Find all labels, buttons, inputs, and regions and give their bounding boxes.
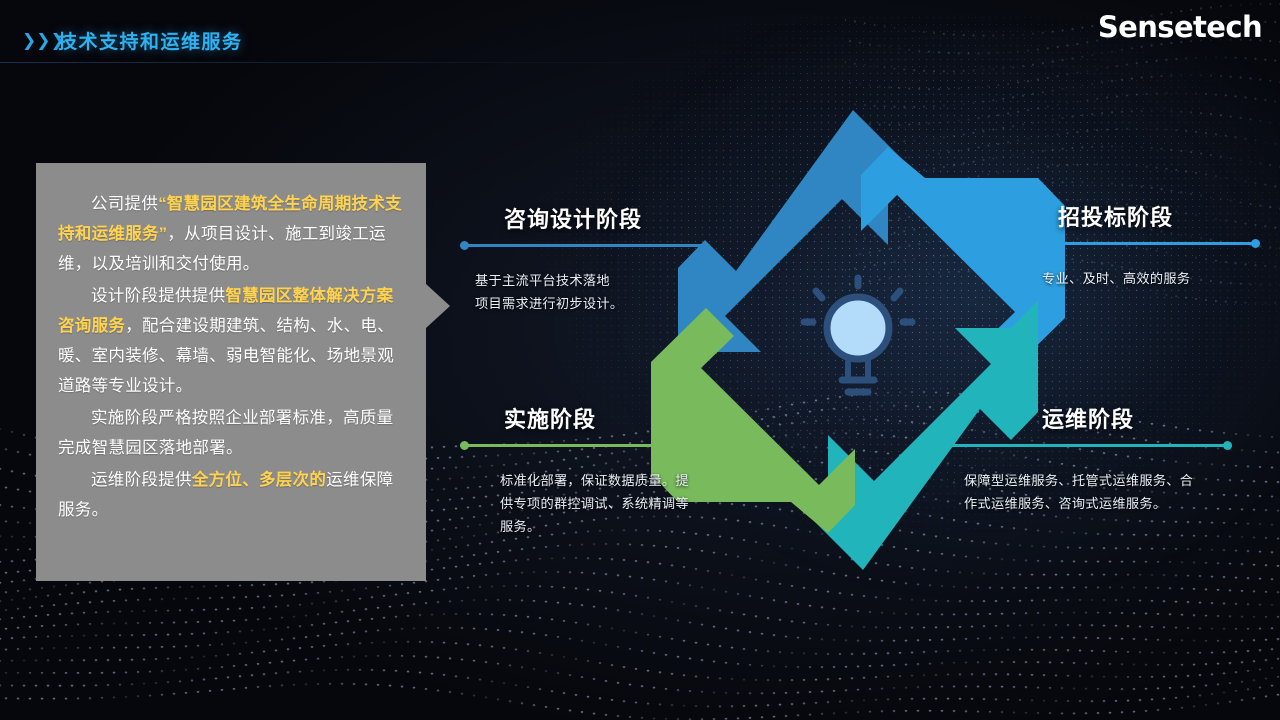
page-header: ❯❯❯ 技术支持和运维服务 Sensetech — [0, 0, 1280, 62]
stage-rule-consult — [460, 244, 710, 247]
body-text: 设计阶段提供提供 — [91, 287, 225, 305]
info-paragraph: 公司提供“智慧园区建筑全生命周期技术支持和运维服务”，从项目设计、施工到竣工运维… — [58, 189, 404, 279]
stage-title-implementation: 实施阶段 — [504, 402, 715, 434]
header-divider — [0, 62, 1280, 63]
brand-logo: Sensetech — [1098, 10, 1262, 44]
stage-block-bidding: 招投标阶段 专业、及时、高效的服务 — [1020, 200, 1270, 290]
stage-desc-operations: 保障型运维服务、托管式运维服务、合作式运维服务、咨询式运维服务。 — [964, 469, 1244, 515]
highlight-text: 全方位、多层次的 — [192, 471, 326, 489]
body-text: 公司提供 — [91, 195, 158, 213]
stage-desc-consult: 基于主流平台技术落地项目需求进行初步设计。 — [475, 269, 710, 315]
info-paragraph: 运维阶段提供全方位、多层次的运维保障服务。 — [58, 465, 404, 525]
stage-block-operations: 运维阶段 保障型运维服务、托管式运维服务、合作式运维服务、咨询式运维服务。 — [946, 402, 1236, 515]
stage-title-operations: 运维阶段 — [1042, 402, 1236, 434]
info-panel-pointer — [426, 284, 450, 328]
stage-desc-bidding: 专业、及时、高效的服务 — [1042, 267, 1270, 290]
page-title: 技术支持和运维服务 — [58, 27, 243, 54]
stage-block-consult: 咨询设计阶段 基于主流平台技术落地项目需求进行初步设计。 — [460, 202, 710, 315]
body-text: 运维阶段提供 — [91, 471, 192, 489]
lightbulb-icon — [804, 278, 912, 392]
stage-title-consult: 咨询设计阶段 — [504, 202, 710, 234]
stage-desc-implementation: 标准化部署，保证数据质量。提供专项的群控调试、系统精调等服务。 — [500, 469, 745, 538]
info-panel-body: 公司提供“智慧园区建筑全生命周期技术支持和运维服务”，从项目设计、施工到竣工运维… — [58, 189, 404, 525]
triple-chevron-right-icon: ❯❯❯ — [22, 32, 63, 49]
stage-rule-implementation — [460, 444, 742, 447]
info-panel: 公司提供“智慧园区建筑全生命周期技术支持和运维服务”，从项目设计、施工到竣工运维… — [36, 163, 426, 581]
info-paragraph: 设计阶段提供提供智慧园区整体解决方案咨询服务，配合建设期建筑、结构、水、电、暖、… — [58, 281, 404, 401]
stage-rule-bidding — [1008, 242, 1260, 245]
body-text: 实施阶段严格按照企业部署标准，高质量完成智慧园区落地部署。 — [58, 409, 393, 457]
stage-rule-operations — [940, 444, 1232, 447]
stage-title-bidding: 招投标阶段 — [1058, 200, 1270, 232]
info-paragraph: 实施阶段严格按照企业部署标准，高质量完成智慧园区落地部署。 — [58, 403, 404, 463]
stage-block-implementation: 实施阶段 标准化部署，保证数据质量。提供专项的群控调试、系统精调等服务。 — [460, 402, 715, 538]
